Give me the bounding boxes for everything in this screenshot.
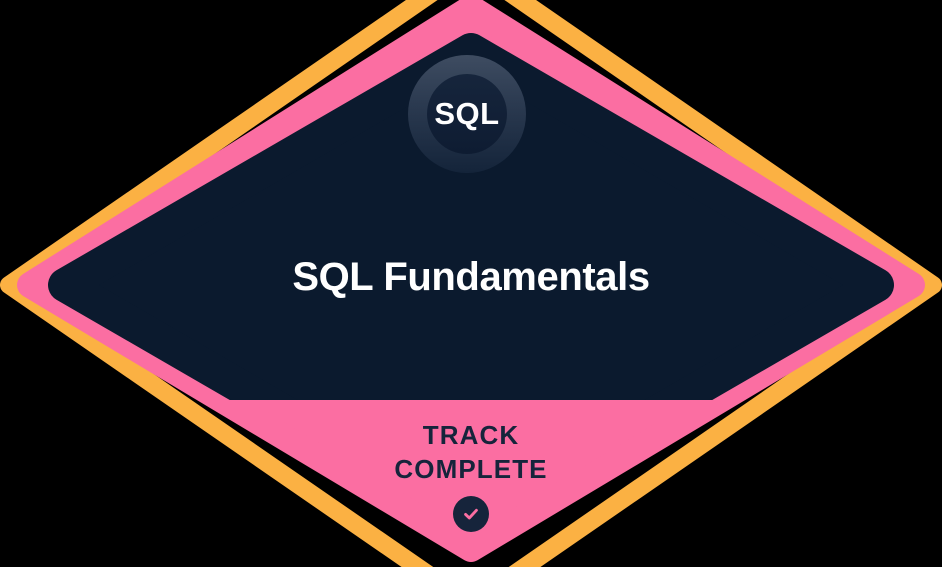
sql-emblem-label: SQL	[408, 55, 526, 173]
status-line-complete: COMPLETE	[0, 452, 942, 486]
check-circle-icon	[453, 496, 489, 532]
status-line-track: TRACK	[0, 418, 942, 452]
completion-status: TRACK COMPLETE	[0, 418, 942, 532]
sql-emblem: SQL	[408, 55, 526, 173]
check-glyph	[461, 504, 481, 524]
badge-canvas: SQL SQL Fundamentals TRACK COMPLETE	[0, 0, 942, 567]
track-title: SQL Fundamentals	[0, 255, 942, 300]
